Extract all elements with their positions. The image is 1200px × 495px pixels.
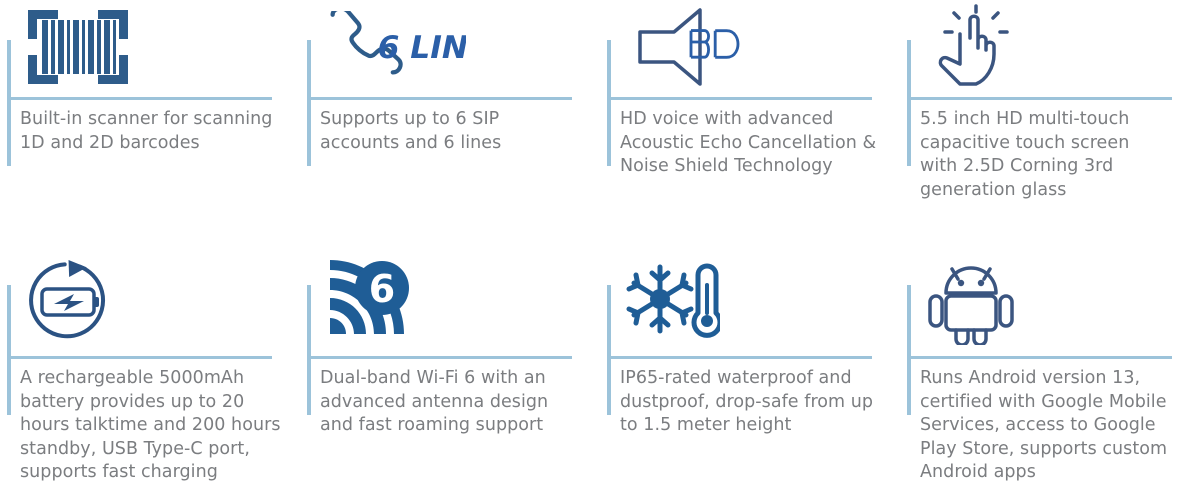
six-lines-label: 6 LINES: [378, 30, 466, 66]
horizontal-rule: [307, 97, 572, 100]
feature-cell-android: Runs Android version 13, certified with …: [900, 245, 1200, 495]
wifi-6-icon: 6: [326, 259, 466, 345]
vertical-rule: [307, 40, 311, 166]
horizontal-rule: [907, 97, 1172, 100]
feature-description: Built-in scanner for scanning 1D and 2D …: [20, 108, 282, 155]
feature-description: IP65-rated waterproof and dustproof, dro…: [620, 367, 882, 438]
feature-cell-wifi6: 6 Dual-band Wi-Fi 6 with an advanced ant…: [300, 245, 600, 495]
horizontal-rule: [907, 356, 1172, 359]
feature-cell-barcode-scanner: Built-in scanner for scanning 1D and 2D …: [0, 0, 300, 245]
vertical-rule: [907, 285, 911, 415]
feature-cell-ip65: IP65-rated waterproof and dustproof, dro…: [600, 245, 900, 495]
horizontal-rule: [607, 97, 872, 100]
feature-description: 5.5 inch HD multi-touch capacitive touch…: [920, 108, 1160, 202]
snowflake-thermometer-icon: [626, 259, 766, 345]
feature-description: HD voice with advanced Acoustic Echo Can…: [620, 108, 888, 179]
horizontal-rule: [607, 356, 872, 359]
android-robot-icon: [926, 259, 1066, 345]
horizontal-rule: [7, 356, 272, 359]
feature-description: A rechargeable 5000mAh battery provides …: [20, 367, 282, 485]
vertical-rule: [607, 40, 611, 166]
feature-description: Dual-band Wi-Fi 6 with an advanced anten…: [320, 367, 582, 438]
feature-description: Runs Android version 13, certified with …: [920, 367, 1176, 485]
feature-cell-battery: A rechargeable 5000mAh battery provides …: [0, 245, 300, 495]
feature-cell-six-lines: 6 LINES Supports up to 6 SIP accounts an…: [300, 0, 600, 245]
feature-cell-hd-voice: HD voice with advanced Acoustic Echo Can…: [600, 0, 900, 245]
rechargeable-battery-icon: [26, 259, 166, 345]
vertical-rule: [607, 285, 611, 415]
wifi-generation-label: 6: [369, 267, 395, 311]
feature-description: Supports up to 6 SIP accounts and 6 line…: [320, 108, 582, 155]
vertical-rule: [307, 285, 311, 415]
phone-six-lines-icon: 6 LINES: [326, 4, 466, 90]
touch-gesture-icon: [926, 4, 1066, 90]
horizontal-rule: [7, 97, 272, 100]
feature-cell-touch-screen: 5.5 inch HD multi-touch capacitive touch…: [900, 0, 1200, 245]
horizontal-rule: [307, 356, 572, 359]
hd-speaker-icon: [626, 4, 766, 90]
vertical-rule: [907, 40, 911, 166]
feature-grid: Built-in scanner for scanning 1D and 2D …: [0, 0, 1200, 495]
barcode-scanner-icon: [26, 4, 166, 90]
vertical-rule: [7, 40, 11, 166]
vertical-rule: [7, 285, 11, 415]
